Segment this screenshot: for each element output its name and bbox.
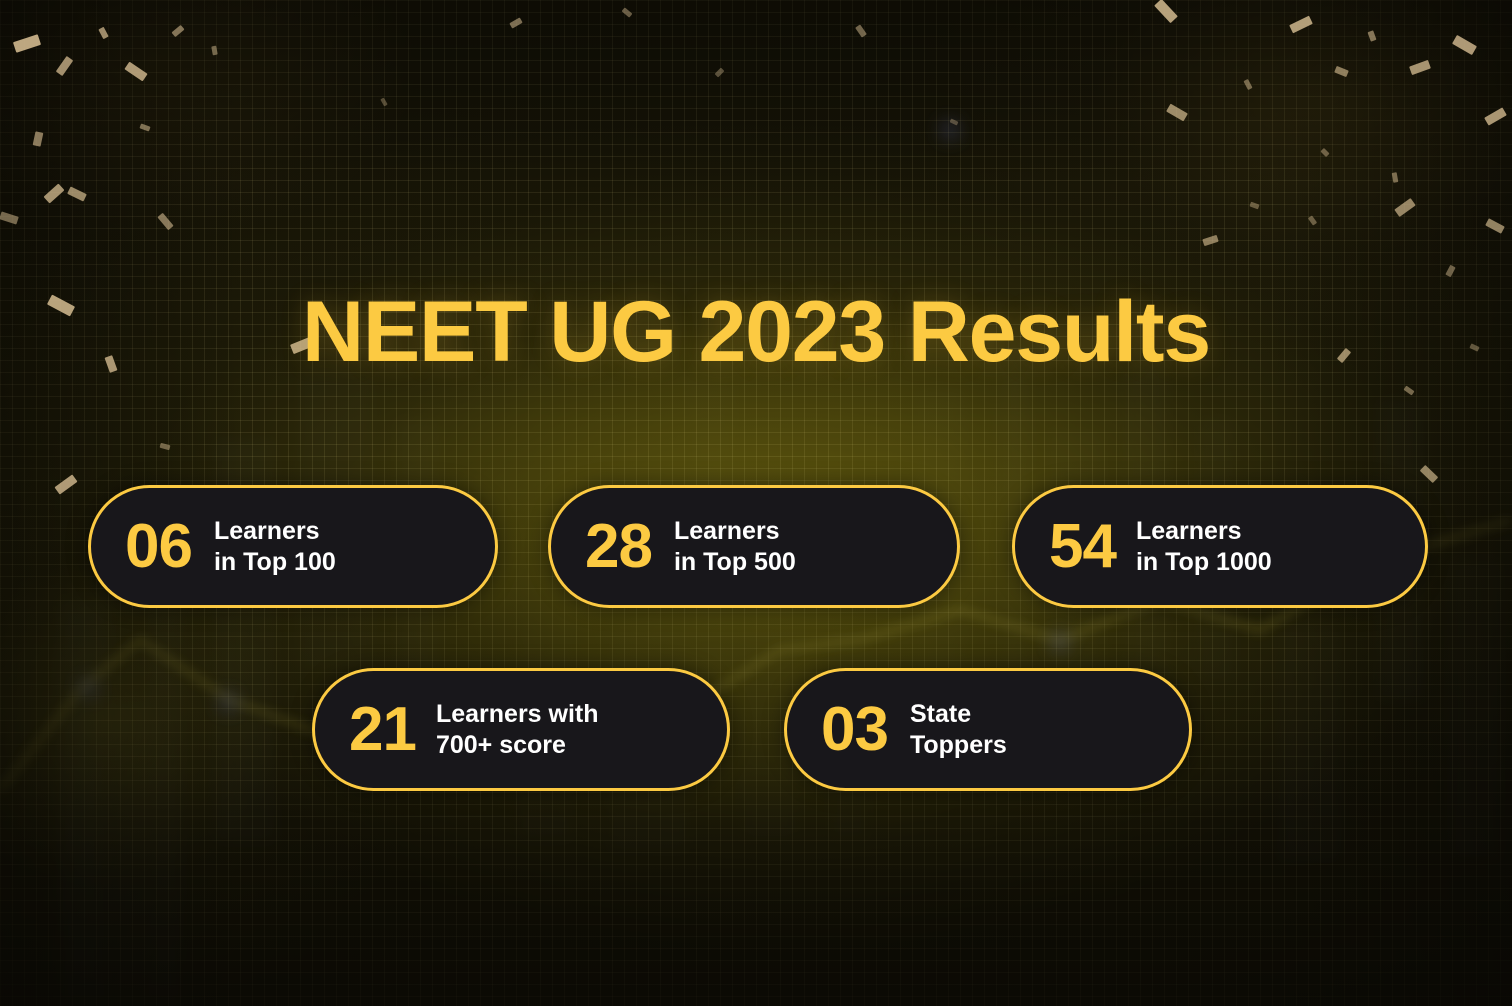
stat-label-line1: Learners <box>214 517 320 545</box>
stat-number: 03 <box>821 699 888 761</box>
stat-number: 28 <box>585 516 652 578</box>
stat-card-top-100: 06 Learners in Top 100 <box>88 485 498 608</box>
stat-number: 54 <box>1049 516 1116 578</box>
stat-label: Learners in Top 500 <box>674 516 796 577</box>
stat-card-700-plus-score: 21 Learners with 700+ score <box>312 668 730 791</box>
stat-label-line2: 700+ score <box>436 730 599 761</box>
stat-card-top-1000: 54 Learners in Top 1000 <box>1012 485 1428 608</box>
stat-label: Learners in Top 100 <box>214 516 336 577</box>
stat-number: 06 <box>125 516 192 578</box>
stat-label: Learners with 700+ score <box>436 699 599 760</box>
stat-label-line2: in Top 500 <box>674 547 796 578</box>
stat-card-top-500: 28 Learners in Top 500 <box>548 485 960 608</box>
stat-label-line2: in Top 100 <box>214 547 336 578</box>
stat-label-line1: Learners <box>1136 517 1242 545</box>
stat-label-line1: Learners with <box>436 700 599 728</box>
banner-content: NEET UG 2023 Results 06 Learners in Top … <box>0 0 1512 1006</box>
stat-label: Learners in Top 1000 <box>1136 516 1272 577</box>
stat-label-line2: in Top 1000 <box>1136 547 1272 578</box>
stat-label-line2: Toppers <box>910 730 1007 761</box>
results-banner: NEET UG 2023 Results 06 Learners in Top … <box>0 0 1512 1006</box>
stat-label: State Toppers <box>910 699 1007 760</box>
stat-number: 21 <box>349 699 416 761</box>
page-title: NEET UG 2023 Results <box>0 289 1512 375</box>
stat-label-line1: State <box>910 700 971 728</box>
stat-card-state-toppers: 03 State Toppers <box>784 668 1192 791</box>
stat-label-line1: Learners <box>674 517 780 545</box>
